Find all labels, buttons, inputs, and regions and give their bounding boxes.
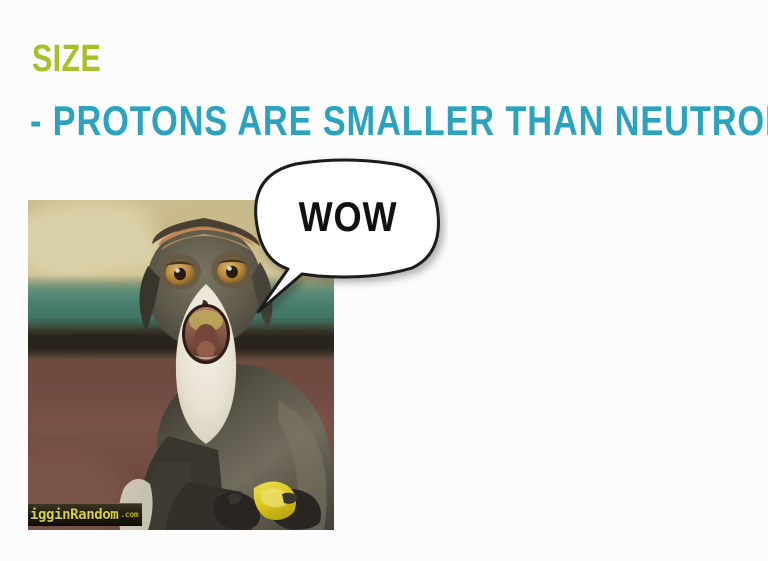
photo-watermark: igginRandom .com xyxy=(28,503,142,526)
watermark-site-name: igginRandom xyxy=(30,507,118,523)
slide-canvas: SIZE - PROTONS ARE SMALLER THAN NEUTRONS xyxy=(0,0,768,561)
page-title: SIZE xyxy=(32,38,101,80)
speech-bubble-shape xyxy=(248,156,448,321)
slide-bullet-text: - PROTONS ARE SMALLER THAN NEUTRONS xyxy=(30,97,768,145)
speech-bubble xyxy=(248,156,448,321)
watermark-tld: .com xyxy=(120,510,138,519)
